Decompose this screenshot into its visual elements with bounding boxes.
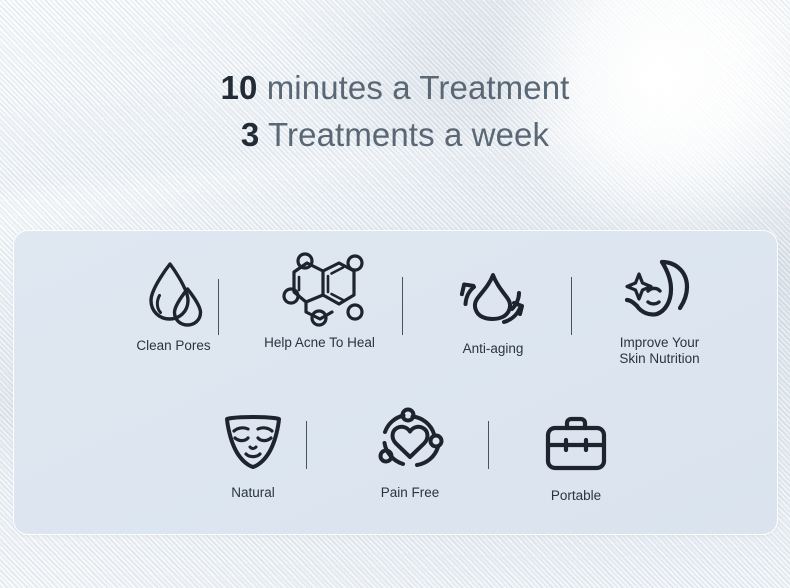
briefcase-icon bbox=[526, 406, 626, 482]
heart-network-icon bbox=[360, 403, 460, 479]
heading-block: 10 minutes a Treatment 3 Treatments a we… bbox=[0, 64, 790, 158]
water-droplets-icon bbox=[121, 256, 226, 332]
divider-row1-3 bbox=[571, 277, 572, 335]
feature-label: Anti-aging bbox=[438, 341, 548, 357]
molecule-icon bbox=[252, 253, 387, 329]
heading-line-1: 10 minutes a Treatment bbox=[0, 64, 790, 111]
heading-2-number: 3 bbox=[241, 116, 259, 153]
heading-1-text: minutes a Treatment bbox=[257, 69, 569, 106]
feature-pain-free: Pain Free bbox=[360, 403, 460, 501]
feature-label: Help Acne To Heal bbox=[252, 335, 387, 351]
divider-row2-1 bbox=[306, 421, 307, 469]
feature-natural: Natural bbox=[203, 403, 303, 501]
divider-row1-1 bbox=[218, 279, 219, 335]
feature-label: Pain Free bbox=[360, 485, 460, 501]
face-rotation-arrows-icon bbox=[438, 259, 548, 335]
heading-2-text: Treatments a week bbox=[259, 116, 549, 153]
divider-row1-2 bbox=[402, 277, 403, 335]
feature-label: Clean Pores bbox=[121, 338, 226, 354]
serene-face-icon bbox=[203, 403, 303, 479]
divider-row2-2 bbox=[488, 421, 489, 469]
feature-anti-aging: Anti-aging bbox=[438, 259, 548, 357]
face-sparkle-icon bbox=[592, 253, 727, 329]
feature-help-acne-to-heal: Help Acne To Heal bbox=[252, 253, 387, 351]
heading-1-number: 10 bbox=[221, 69, 258, 106]
feature-label: Natural bbox=[203, 485, 303, 501]
feature-label: Portable bbox=[526, 488, 626, 504]
feature-clean-pores: Clean Pores bbox=[121, 256, 226, 354]
features-panel: Clean Pores Help bbox=[13, 230, 778, 535]
heading-line-2: 3 Treatments a week bbox=[0, 111, 790, 158]
feature-portable: Portable bbox=[526, 406, 626, 504]
feature-label: Improve Your Skin Nutrition bbox=[592, 335, 727, 367]
feature-improve-skin-nutrition: Improve Your Skin Nutrition bbox=[592, 253, 727, 367]
